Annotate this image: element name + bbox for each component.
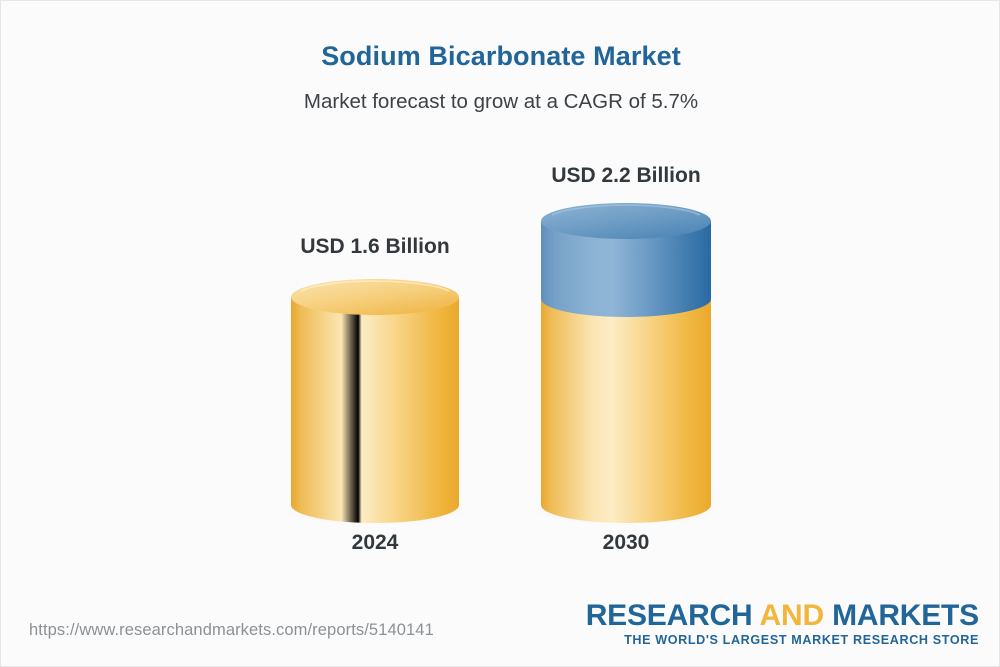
category-label-2024: 2024 [291, 531, 459, 555]
data-label-2030: USD 2.2 Billion [541, 164, 711, 188]
cylinder-body [291, 297, 459, 523]
source-url[interactable]: https://www.researchandmarkets.com/repor… [29, 621, 434, 640]
research-and-markets-logo[interactable]: RESEARCH AND MARKETS THE WORLD'S LARGEST… [586, 601, 979, 649]
logo-tagline: THE WORLD'S LARGEST MARKET RESEARCH STOR… [586, 632, 979, 649]
chart-canvas: Sodium Bicarbonate Market Market forecas… [0, 0, 1000, 667]
cylinder-top-cap [291, 279, 459, 315]
plot-area: USD 1.6 Billion USD 2.2 Billion 2024 203… [1, 1, 1000, 667]
logo-markets-text: MARKETS [832, 599, 979, 632]
cylinder-bar-2024 [287, 279, 463, 523]
logo-and-text: AND [760, 599, 824, 632]
cylinder-segment-gold [541, 299, 711, 523]
cylinder-bar-2030 [537, 203, 715, 523]
cylinder-top-cap [541, 203, 711, 239]
logo-wordmark: RESEARCH AND MARKETS [586, 601, 979, 632]
category-label-2030: 2030 [541, 531, 711, 555]
logo-research-text: RESEARCH [586, 599, 753, 632]
data-label-2024: USD 1.6 Billion [291, 235, 459, 259]
